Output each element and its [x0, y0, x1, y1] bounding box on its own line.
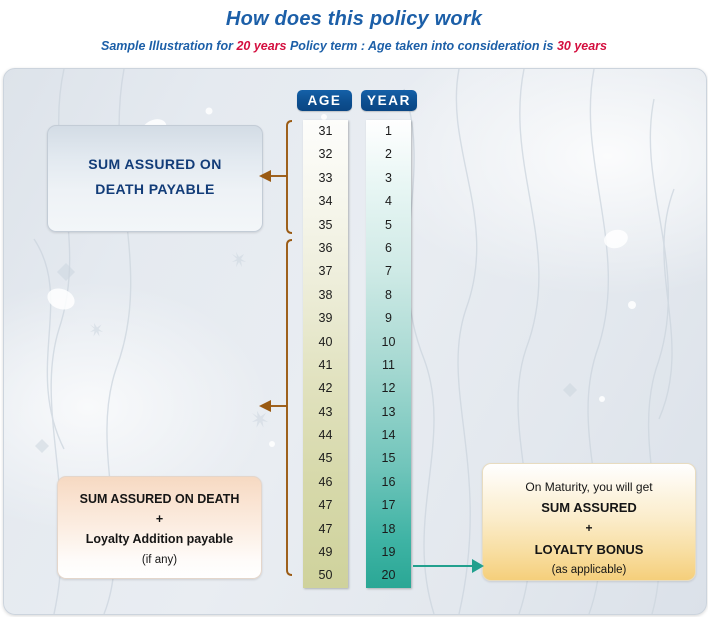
year-cell: 15	[366, 447, 411, 470]
header: How does this policy work Sample Illustr…	[0, 0, 708, 66]
year-cell: 4	[366, 190, 411, 213]
death-bottom-note: (if any)	[58, 550, 261, 570]
subtitle-segment-2: Policy term : Age taken into considerati…	[287, 39, 557, 53]
age-cell: 49	[303, 541, 348, 564]
age-cell: 40	[303, 331, 348, 354]
age-cell: 35	[303, 214, 348, 237]
age-cell: 34	[303, 190, 348, 213]
sum-assured-death-loyalty-box: SUM ASSURED ON DEATH + Loyalty Addition …	[57, 476, 262, 579]
death-top-line-1: SUM ASSURED ON	[48, 152, 262, 177]
year-cell: 8	[366, 284, 411, 307]
maturity-benefit-box: On Maturity, you will get SUM ASSURED + …	[482, 463, 696, 581]
year-cell: 10	[366, 331, 411, 354]
death-bottom-plus: +	[58, 509, 261, 529]
age-cell: 38	[303, 284, 348, 307]
maturity-plus: +	[483, 519, 695, 538]
age-cell: 31	[303, 120, 348, 143]
maturity-line-1: On Maturity, you will get	[483, 477, 695, 497]
year-column: 1234567891011121314151617181920	[366, 120, 411, 588]
maturity-note: (as applicable)	[483, 561, 695, 580]
year-cell: 6	[366, 237, 411, 260]
year-cell: 9	[366, 307, 411, 330]
age-cell: 32	[303, 143, 348, 166]
year-cell: 14	[366, 424, 411, 447]
death-bottom-line-3: Loyalty Addition payable	[58, 529, 261, 550]
year-cell: 19	[366, 541, 411, 564]
maturity-line-4: LOYALTY BONUS	[483, 538, 695, 561]
age-cell: 39	[303, 307, 348, 330]
year-cell: 5	[366, 214, 411, 237]
year-column-header-badge: YEAR	[361, 90, 417, 111]
maturity-line-2: SUM ASSURED	[483, 497, 695, 519]
age-cell: 36	[303, 237, 348, 260]
age-cell: 50	[303, 564, 348, 587]
year-cell: 3	[366, 167, 411, 190]
age-cell: 37	[303, 260, 348, 283]
age-cell: 33	[303, 167, 348, 190]
death-bottom-line-1: SUM ASSURED ON DEATH	[58, 489, 261, 509]
age-column-header-badge: AGE	[297, 90, 352, 111]
year-cell: 1	[366, 120, 411, 143]
year-cell: 17	[366, 494, 411, 517]
age-cell: 42	[303, 377, 348, 400]
subtitle-highlight-age: 30 years	[557, 39, 607, 53]
sum-assured-death-payable-box: SUM ASSURED ON DEATH PAYABLE	[47, 125, 263, 232]
year-cell: 18	[366, 518, 411, 541]
year-cell: 20	[366, 564, 411, 587]
age-cell: 45	[303, 447, 348, 470]
year-cell: 12	[366, 377, 411, 400]
age-cell: 43	[303, 401, 348, 424]
page-subtitle: Sample Illustration for 20 years Policy …	[0, 39, 708, 53]
age-cell: 46	[303, 471, 348, 494]
page-title: How does this policy work	[0, 8, 708, 31]
subtitle-segment-1: Sample Illustration for	[101, 39, 236, 53]
death-top-line-2: DEATH PAYABLE	[48, 177, 262, 202]
age-cell: 47	[303, 518, 348, 541]
age-cell: 41	[303, 354, 348, 377]
age-column: 3132333435363738394041424344454647474950	[303, 120, 348, 588]
year-cell: 2	[366, 143, 411, 166]
year-cell: 16	[366, 471, 411, 494]
year-cell: 7	[366, 260, 411, 283]
year-cell: 13	[366, 401, 411, 424]
year-cell: 11	[366, 354, 411, 377]
subtitle-highlight-policy-term: 20 years	[236, 39, 286, 53]
age-cell: 44	[303, 424, 348, 447]
age-cell: 47	[303, 494, 348, 517]
